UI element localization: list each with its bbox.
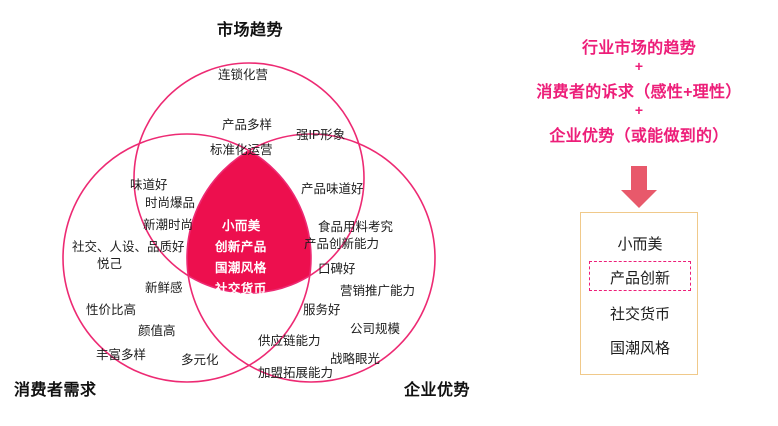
venn-label-top-1: 产品多样 [222, 118, 272, 132]
venn-title-market-trend: 市场趋势 [0, 16, 500, 40]
venn-label-top-2: 标准化运营 [210, 143, 273, 157]
result-box: 小而美 产品创新 社交货币 国潮风格 [580, 212, 698, 375]
result-item-1: 产品创新 [581, 267, 699, 288]
venn-label-right-9: 加盟拓展能力 [258, 366, 333, 380]
down-arrow-icon [619, 166, 659, 208]
venn-label-left-4: 悦己 [97, 257, 122, 271]
core-label-1: 创新产品 [215, 236, 267, 255]
venn-label-right-1: 食品用料考究 [318, 220, 393, 234]
venn-label-right-3: 口碑好 [318, 262, 356, 276]
venn-label-right-8: 战略眼光 [330, 352, 380, 366]
slide-canvas: 市场趋势 消费者需求 企业优势 连锁化营 产品多样 标准化运营 强IP形象 味道… [0, 0, 778, 426]
formula-plus-3: + [500, 102, 778, 118]
venn-label-right-0: 产品味道好 [301, 182, 364, 196]
venn-label-right-5: 服务好 [303, 303, 341, 317]
venn-diagram-panel: 市场趋势 消费者需求 企业优势 连锁化营 产品多样 标准化运营 强IP形象 味道… [0, 0, 500, 426]
formula-line-2: 消费者的诉求（感性+理性） [500, 78, 778, 102]
venn-title-consumer-demand: 消费者需求 [14, 376, 97, 400]
venn-label-left-7: 颜值高 [138, 324, 176, 338]
venn-label-left-0: 味道好 [130, 178, 168, 192]
venn-circles-graphic [0, 0, 500, 426]
venn-label-right-7: 供应链能力 [258, 334, 321, 348]
venn-label-left-8: 丰富多样 [96, 348, 146, 362]
formula-line-4: 企业优势（或能做到的） [500, 122, 778, 146]
venn-label-left-9: 多元化 [181, 353, 219, 367]
venn-label-left-2: 新潮时尚 [143, 218, 193, 232]
venn-label-left-5: 新鲜感 [145, 281, 183, 295]
venn-label-top-3: 强IP形象 [296, 128, 345, 142]
core-label-3: 社交货币 [215, 278, 267, 297]
result-item-0: 小而美 [581, 233, 699, 254]
core-label-0: 小而美 [222, 215, 261, 234]
summary-panel: 行业市场的趋势 + 消费者的诉求（感性+理性） + 企业优势（或能做到的） 小而… [500, 0, 778, 426]
formula-line-0: 行业市场的趋势 [500, 34, 778, 58]
venn-label-left-1: 时尚爆品 [145, 196, 195, 210]
venn-label-right-4: 营销推广能力 [340, 284, 415, 298]
venn-label-right-2: 产品创新能力 [304, 237, 379, 251]
result-item-2: 社交货币 [581, 303, 699, 324]
venn-label-top-0: 连锁化营 [218, 68, 268, 82]
venn-label-right-6: 公司规模 [350, 322, 400, 336]
venn-title-company-advantage: 企业优势 [404, 376, 470, 400]
venn-label-left-6: 性价比高 [86, 303, 136, 317]
core-label-2: 国潮风格 [215, 257, 267, 276]
formula-plus-1: + [500, 58, 778, 74]
venn-label-left-3: 社交、人设、品质好 [72, 240, 185, 254]
result-item-3: 国潮风格 [581, 337, 699, 358]
